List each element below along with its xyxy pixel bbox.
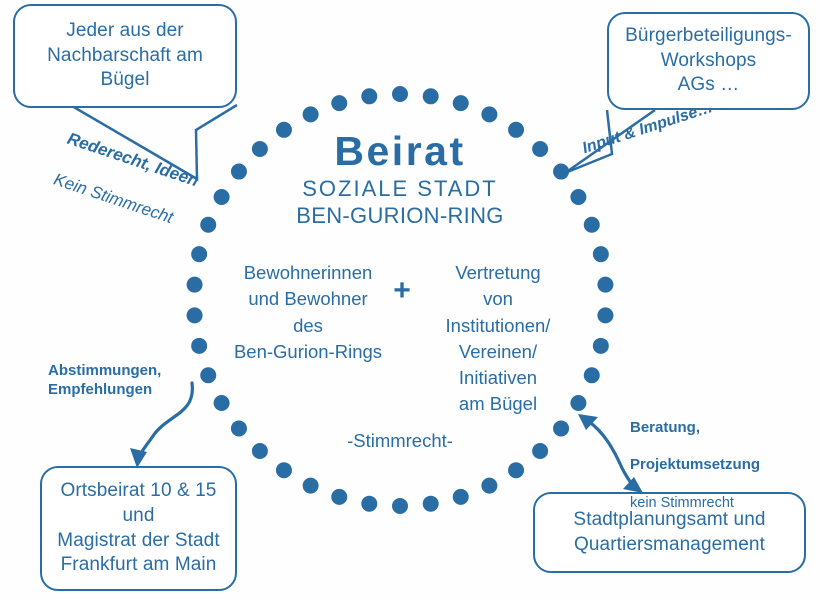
ring-dot [214,189,230,205]
ring-dot [553,420,569,436]
edge-label-beratung-line1: Beratung, [630,419,760,438]
ring-dot [214,395,230,411]
arrowhead-abstimmungen [130,448,147,468]
ring-dot [191,338,207,354]
ring-dot [481,106,497,122]
ring-dot [200,367,216,383]
ring-dot [187,277,203,293]
ring-dot [597,307,613,323]
ring-dot [453,95,469,111]
ring-dot [276,462,292,478]
ring-dot [392,86,408,102]
ring-dot [191,246,207,262]
callout-neighbourhood-text: Jeder aus der Nachbarschaft am Bügel [47,19,203,93]
ring-dot [423,496,439,512]
ring-dot [532,443,548,459]
ring-dot [508,462,524,478]
callout-participation-text: Bürgerbeteiligungs- Workshops AGs … [625,24,792,98]
ring-dot [570,189,586,205]
diagram-subtitle-line2: BEN-GURION-RING [270,203,530,229]
ring-dot [231,164,247,180]
edge-label-beratung: Beratung, Projektumsetzung kein Stimmrec… [630,400,760,531]
ring-dot [187,307,203,323]
plus-icon: + [390,276,414,306]
callout-ortsbeirat-text: Ortsbeirat 10 & 15 und Magistrat der Sta… [57,479,219,578]
ring-dot [252,443,268,459]
center-column-institutions: Vertretung von Institutionen/ Vereinen/ … [418,260,578,418]
ring-dot [252,141,268,157]
ring-dot [361,88,377,104]
ring-dot [361,496,377,512]
ring-dot [593,338,609,354]
diagram-title: Beirat [270,128,530,175]
ring-dot [453,489,469,505]
edge-label-beratung-line2: Projektumsetzung [630,456,760,475]
ring-dot [532,141,548,157]
ring-dot [481,478,497,494]
arrowhead-beratung-up [578,414,598,430]
callout-ortsbeirat[interactable]: Ortsbeirat 10 & 15 und Magistrat der Sta… [40,466,237,591]
center-footer-stimmrecht: -Stimmrecht- [320,430,480,452]
center-column-residents: Bewohnerinnen und Bewohner des Ben-Gurio… [222,260,394,365]
ring-dot [331,95,347,111]
edge-label-abstimmungen: Abstimmungen, Empfehlungen [48,362,161,400]
ring-dot [593,246,609,262]
ring-dot [392,498,408,514]
ring-dot [584,367,600,383]
callout-participation[interactable]: Bürgerbeteiligungs- Workshops AGs … [607,12,810,110]
diagram-subtitle-line1: SOZIALE STADT [270,176,530,202]
diagram-canvas: Jeder aus der Nachbarschaft am Bügel Bür… [0,0,820,600]
arrow-beratung [588,421,634,487]
ring-dot [584,217,600,233]
ring-dot [331,489,347,505]
callout-neighbourhood[interactable]: Jeder aus der Nachbarschaft am Bügel [13,4,237,108]
edge-label-beratung-line3: kein Stimmrecht [630,494,760,512]
ring-dot [597,277,613,293]
ring-dot [200,217,216,233]
ring-dot [553,164,569,180]
ring-dot [423,88,439,104]
edge-label-rederecht: Rederecht, Ideen Kein Stimmrecht [44,108,208,252]
ring-dot [303,478,319,494]
ring-dot [303,106,319,122]
ring-dot [231,420,247,436]
